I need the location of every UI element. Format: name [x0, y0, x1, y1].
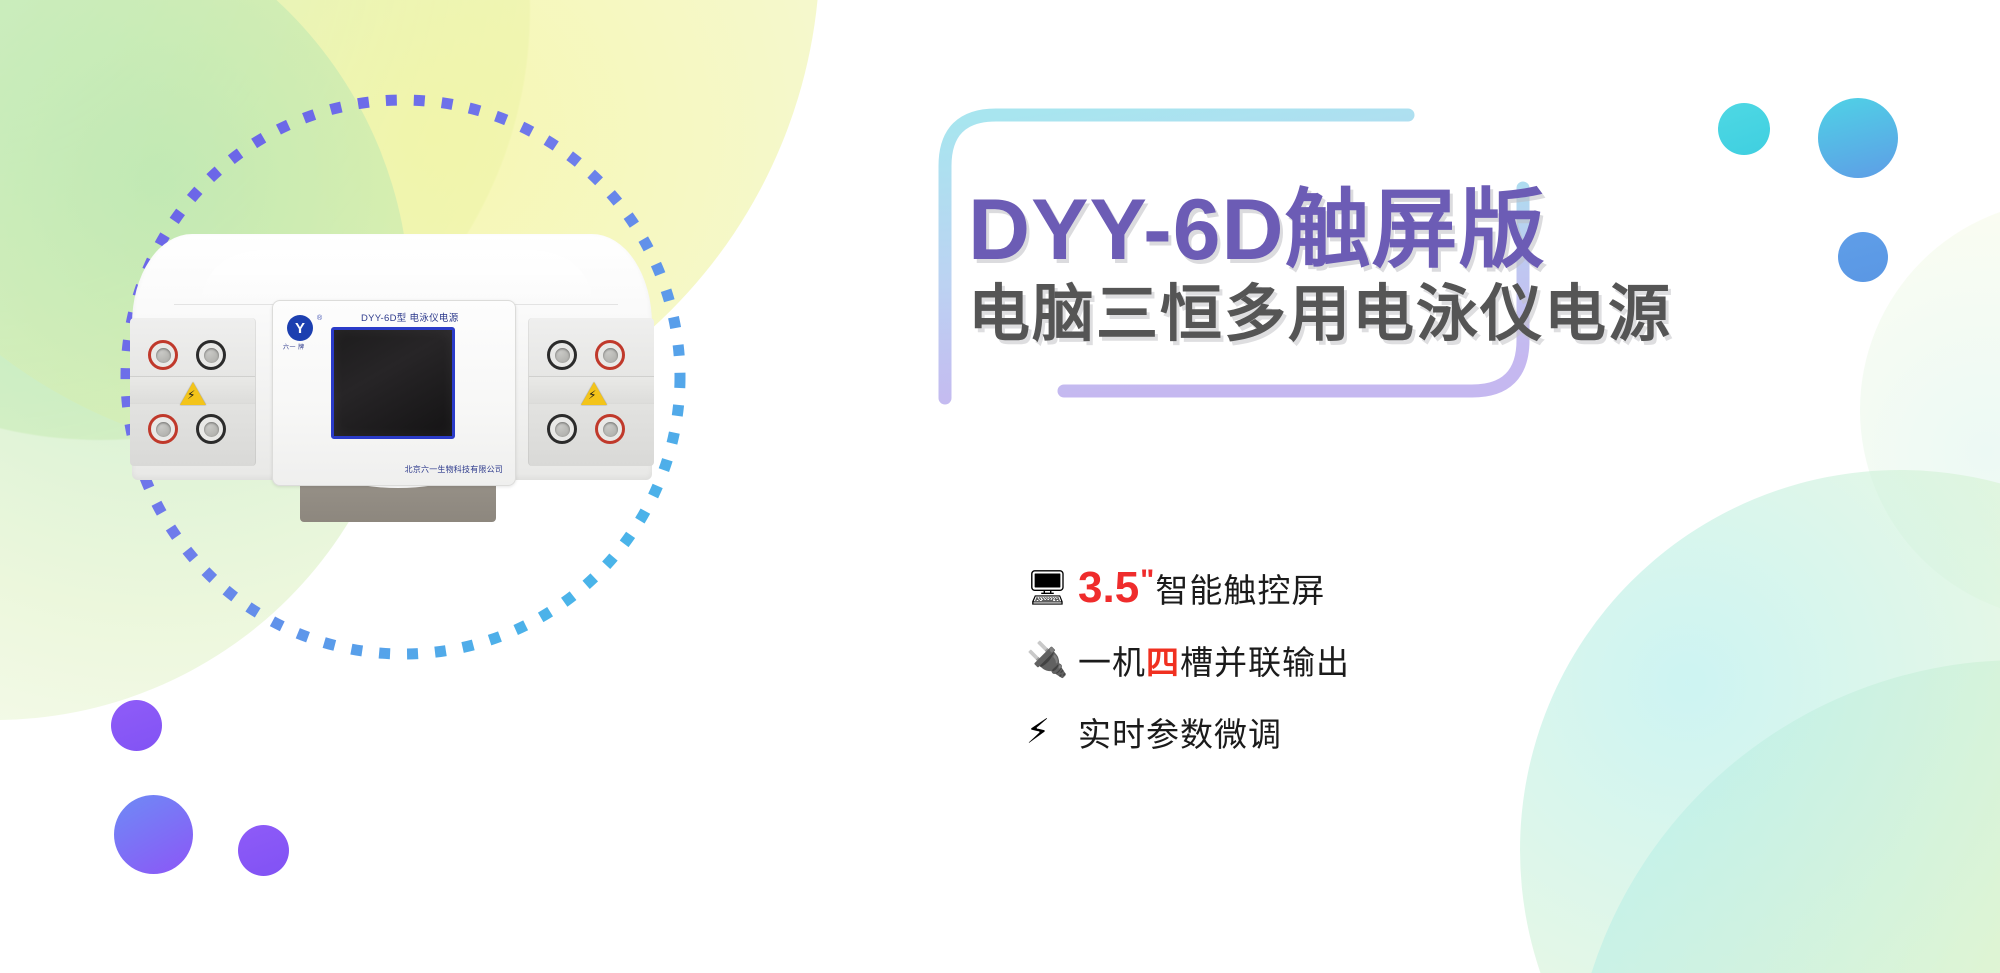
decor-dot-cyan-small — [1718, 103, 1770, 155]
high-voltage-icon: ⚡ — [1026, 715, 1078, 749]
page-title: DYY-6D触屏版 — [968, 186, 1768, 275]
feature-item-four-slot-output: 🔌 一机 四 槽并联输出 — [1026, 624, 1766, 696]
feature-label-highlight: 四 — [1146, 636, 1180, 684]
terminal-jack-red — [595, 414, 625, 444]
feature-unit-inch: " — [1140, 564, 1155, 598]
terminal-jack-black — [196, 414, 226, 444]
feature-label-suffix: 槽并联输出 — [1180, 636, 1350, 684]
feature-item-touchscreen: 🖥 3.5 " 智能触控屏 — [1026, 552, 1766, 624]
feature-text: 一机 四 槽并联输出 — [1078, 636, 1350, 684]
feature-label: 实时参数微调 — [1078, 708, 1282, 756]
terminal-jack-red — [595, 340, 625, 370]
feature-list: 🖥 3.5 " 智能触控屏 🔌 一机 四 槽并联输出 ⚡ 实时参数微调 — [1026, 552, 1766, 768]
decor-dot-purple-small — [238, 825, 289, 876]
brand-logo-icon: Y — [287, 315, 313, 341]
product-model-label: DYY-6D型 电泳仪电源 — [361, 310, 459, 324]
product-company-label: 北京六一生物科技有限公司 — [405, 464, 503, 475]
product-left-terminal-bay — [130, 318, 256, 466]
terminal-jack-red — [148, 414, 178, 444]
decor-dot-blue-large — [1818, 98, 1898, 178]
feature-text: 3.5 " 智能触控屏 — [1078, 563, 1325, 613]
terminal-jack-black — [547, 414, 577, 444]
decor-dot-blue-medium — [1838, 232, 1888, 282]
feature-item-realtime-tuning: ⚡ 实时参数微调 — [1026, 696, 1766, 768]
product-lcd-screen — [331, 327, 455, 439]
product-front-panel: DYY-6D型 电泳仪电源 Y ® 六一 牌 北京六一生物科技有限公司 — [272, 300, 516, 486]
feature-label: 智能触控屏 — [1155, 564, 1325, 612]
desktop-computer-icon: 🖥 — [1026, 571, 1078, 605]
decor-dot-purple-top — [111, 700, 162, 751]
product-banner: DYY-6D型 电泳仪电源 Y ® 六一 牌 北京六一生物科技有限公司 — [0, 0, 2000, 973]
product-chassis: DYY-6D型 电泳仪电源 Y ® 六一 牌 北京六一生物科技有限公司 — [132, 234, 652, 480]
feature-label-prefix: 一机 — [1078, 636, 1146, 684]
product-photo-electrophoresis-power-supply: DYY-6D型 电泳仪电源 Y ® 六一 牌 北京六一生物科技有限公司 — [128, 222, 656, 532]
feature-text: 实时参数微调 — [1078, 708, 1282, 756]
electric-plug-icon: 🔌 — [1026, 643, 1078, 677]
high-voltage-warning-icon — [180, 382, 206, 405]
brand-logo-subtext: 六一 牌 — [283, 342, 305, 351]
product-top-highlight — [202, 250, 592, 304]
decor-dot-purple-large — [114, 795, 193, 874]
product-right-terminal-bay — [528, 318, 654, 466]
terminal-jack-red — [148, 340, 178, 370]
page-subtitle: 电脑三恒多用电泳仪电源 — [968, 281, 1768, 349]
terminal-jack-black — [196, 340, 226, 370]
title-block: DYY-6D触屏版 电脑三恒多用电泳仪电源 — [968, 186, 1768, 350]
terminal-jack-black — [547, 340, 577, 370]
registered-mark: ® — [317, 315, 322, 322]
high-voltage-warning-icon — [581, 382, 607, 405]
feature-value: 3.5 — [1078, 563, 1139, 613]
